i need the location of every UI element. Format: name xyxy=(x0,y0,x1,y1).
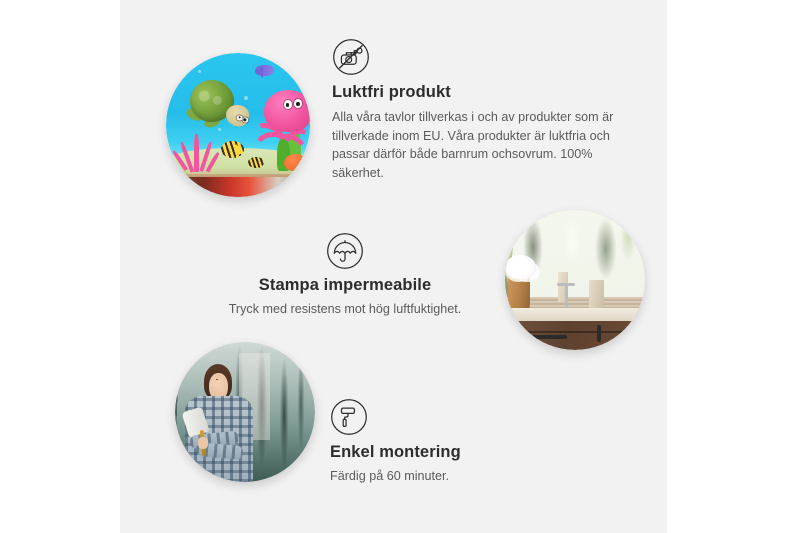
flower-icon xyxy=(505,255,536,280)
product-feature-banner: Luktfri produkt Alla våra tavlor tillver… xyxy=(0,0,800,533)
octopus-head xyxy=(264,90,310,131)
paint-roller-icon xyxy=(330,398,368,436)
turtle-eye xyxy=(236,114,243,120)
fish-icon xyxy=(255,65,274,77)
bathroom-vanity-photo xyxy=(505,210,645,350)
umbrella-icon xyxy=(326,232,364,270)
forest-mural-installer-photo xyxy=(175,342,315,482)
cabinet-handle xyxy=(597,325,601,342)
coral-icon xyxy=(178,134,218,177)
feature-block-odorless: Luktfri produkt Alla våra tavlor tillver… xyxy=(332,38,622,183)
feature-block-waterproof: Stampa impermeabile Tryck med resistens … xyxy=(210,232,480,319)
turtle-icon xyxy=(186,80,246,132)
faucet-icon xyxy=(565,286,568,308)
wooden-cabinet xyxy=(513,321,645,350)
installer-person xyxy=(183,364,264,482)
bubble-icon xyxy=(198,70,201,73)
feature-description: Färdig på 60 minuter. xyxy=(330,467,590,486)
fish-icon xyxy=(221,141,244,158)
feature-title: Enkel montering xyxy=(330,443,590,462)
person-smile xyxy=(216,379,218,380)
octopus-eye xyxy=(294,99,302,108)
bathroom-vanity-photo-inner xyxy=(505,210,645,350)
feature-title: Stampa impermeabile xyxy=(210,276,480,295)
feature-block-easy-installation: Enkel montering Färdig på 60 minuter. xyxy=(330,398,590,486)
person-hand xyxy=(198,437,208,449)
photo-bottom-strip xyxy=(166,177,310,197)
feature-description: Tryck med resistens mot hög luftfuktighe… xyxy=(210,300,480,319)
forest-mural-installer-photo-inner xyxy=(175,342,315,482)
cabinet-seam xyxy=(513,331,645,333)
no-fragrance-icon xyxy=(332,38,370,76)
coral-branch xyxy=(194,134,198,173)
soap-dispenser xyxy=(589,280,604,308)
cabinet-handle xyxy=(532,335,567,339)
feature-description: Alla våra tavlor tillverkas i och av pro… xyxy=(332,108,622,183)
octopus-icon xyxy=(255,90,310,156)
underwater-cartoon-photo-inner xyxy=(166,53,310,197)
octopus-eye xyxy=(284,100,292,109)
feature-title: Luktfri produkt xyxy=(332,83,622,102)
fish-icon xyxy=(248,157,264,169)
underwater-cartoon-photo xyxy=(166,53,310,197)
